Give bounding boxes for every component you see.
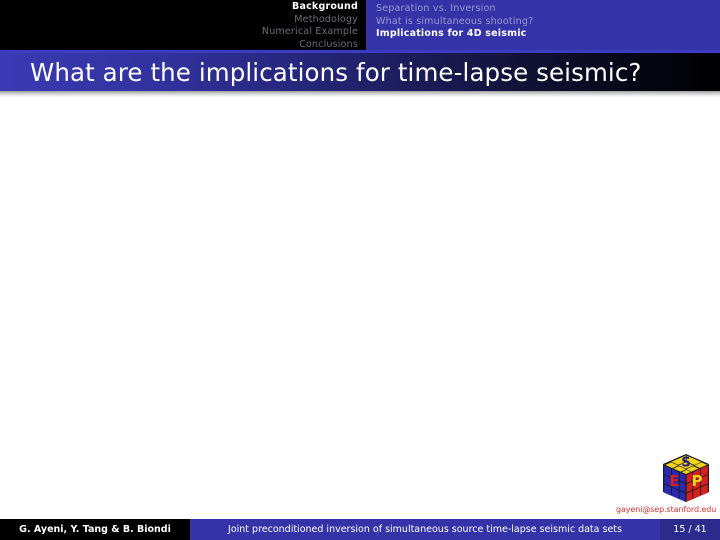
sep-cube-icon: S E P	[659, 452, 713, 506]
nav-subsection-what-is-simultaneous-shooting[interactable]: What is simultaneous shooting?	[376, 16, 533, 29]
footer-authors: G. Ayeni, Y. Tang & B. Biondi	[0, 519, 190, 540]
slide-title: What are the implications for time-lapse…	[30, 58, 642, 87]
footer-page-number: 15 / 41	[660, 519, 720, 540]
contact-email[interactable]: gayeni@sep.stanford.edu	[616, 505, 720, 514]
nav-subsection-implications-for-4d-seismic[interactable]: Implications for 4D seismic	[376, 28, 527, 41]
svg-text:P: P	[692, 472, 703, 490]
nav-subsection-separation-vs-inversion[interactable]: Separation vs. Inversion	[376, 3, 496, 16]
svg-text:E: E	[669, 472, 679, 490]
footer-presentation-title: Joint preconditioned inversion of simult…	[190, 519, 660, 540]
sep-cube-logo: S E P	[659, 452, 713, 506]
section-navigation: Background Methodology Numerical Example…	[0, 0, 366, 50]
svg-text:S: S	[681, 456, 690, 471]
nav-section-methodology[interactable]: Methodology	[294, 14, 358, 27]
nav-section-numerical-example[interactable]: Numerical Example	[262, 26, 358, 39]
navigation-header: Background Methodology Numerical Example…	[0, 0, 720, 50]
slide-footer: G. Ayeni, Y. Tang & B. Biondi Joint prec…	[0, 519, 720, 540]
subsection-navigation: Separation vs. Inversion What is simulta…	[366, 0, 720, 50]
slide-content-area	[0, 97, 720, 517]
nav-section-background[interactable]: Background	[292, 1, 358, 14]
slide-title-bar: What are the implications for time-lapse…	[0, 53, 720, 91]
